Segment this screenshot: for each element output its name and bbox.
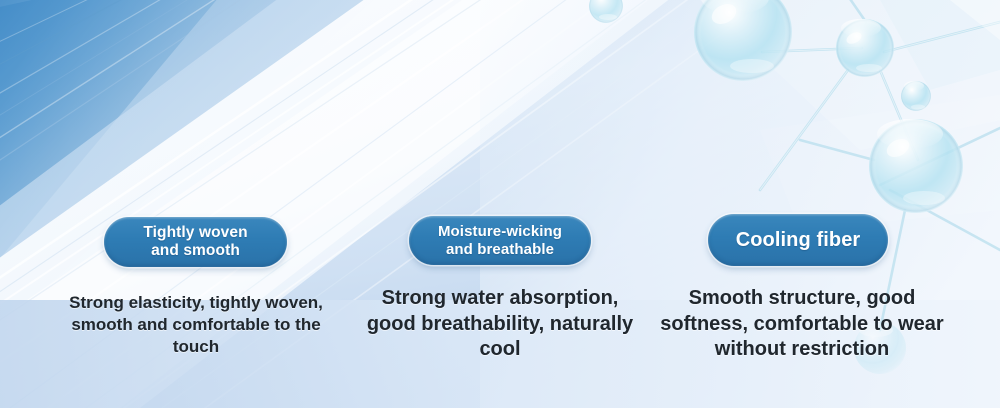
feature-pill-label: Tightly woven and smooth: [143, 224, 247, 260]
feature-pill-line-2: and smooth: [151, 242, 240, 259]
feature-caption-moisture-wicking: Strong water absorption, good breathabil…: [356, 286, 644, 363]
product-feature-banner: Tightly woven and smooth Strong elastici…: [0, 0, 1000, 408]
feature-pill-cooling-fiber[interactable]: Cooling fiber: [708, 214, 888, 266]
feature-pill-line-1: Moisture-wicking: [438, 223, 562, 240]
feature-caption-cooling-fiber: Smooth structure, good softness, comfort…: [654, 286, 950, 363]
feature-pill-moisture-wicking[interactable]: Moisture-wicking and breathable: [409, 216, 591, 265]
feature-pill-label: Cooling fiber: [736, 229, 861, 252]
feature-caption-tightly-woven: Strong elasticity, tightly woven, smooth…: [62, 292, 330, 357]
feature-pill-label: Moisture-wicking and breathable: [438, 223, 562, 258]
feature-pill-line-1: Tightly woven: [143, 224, 247, 241]
feature-pill-line-2: and breathable: [446, 241, 554, 258]
feature-pill-tightly-woven[interactable]: Tightly woven and smooth: [104, 217, 287, 267]
